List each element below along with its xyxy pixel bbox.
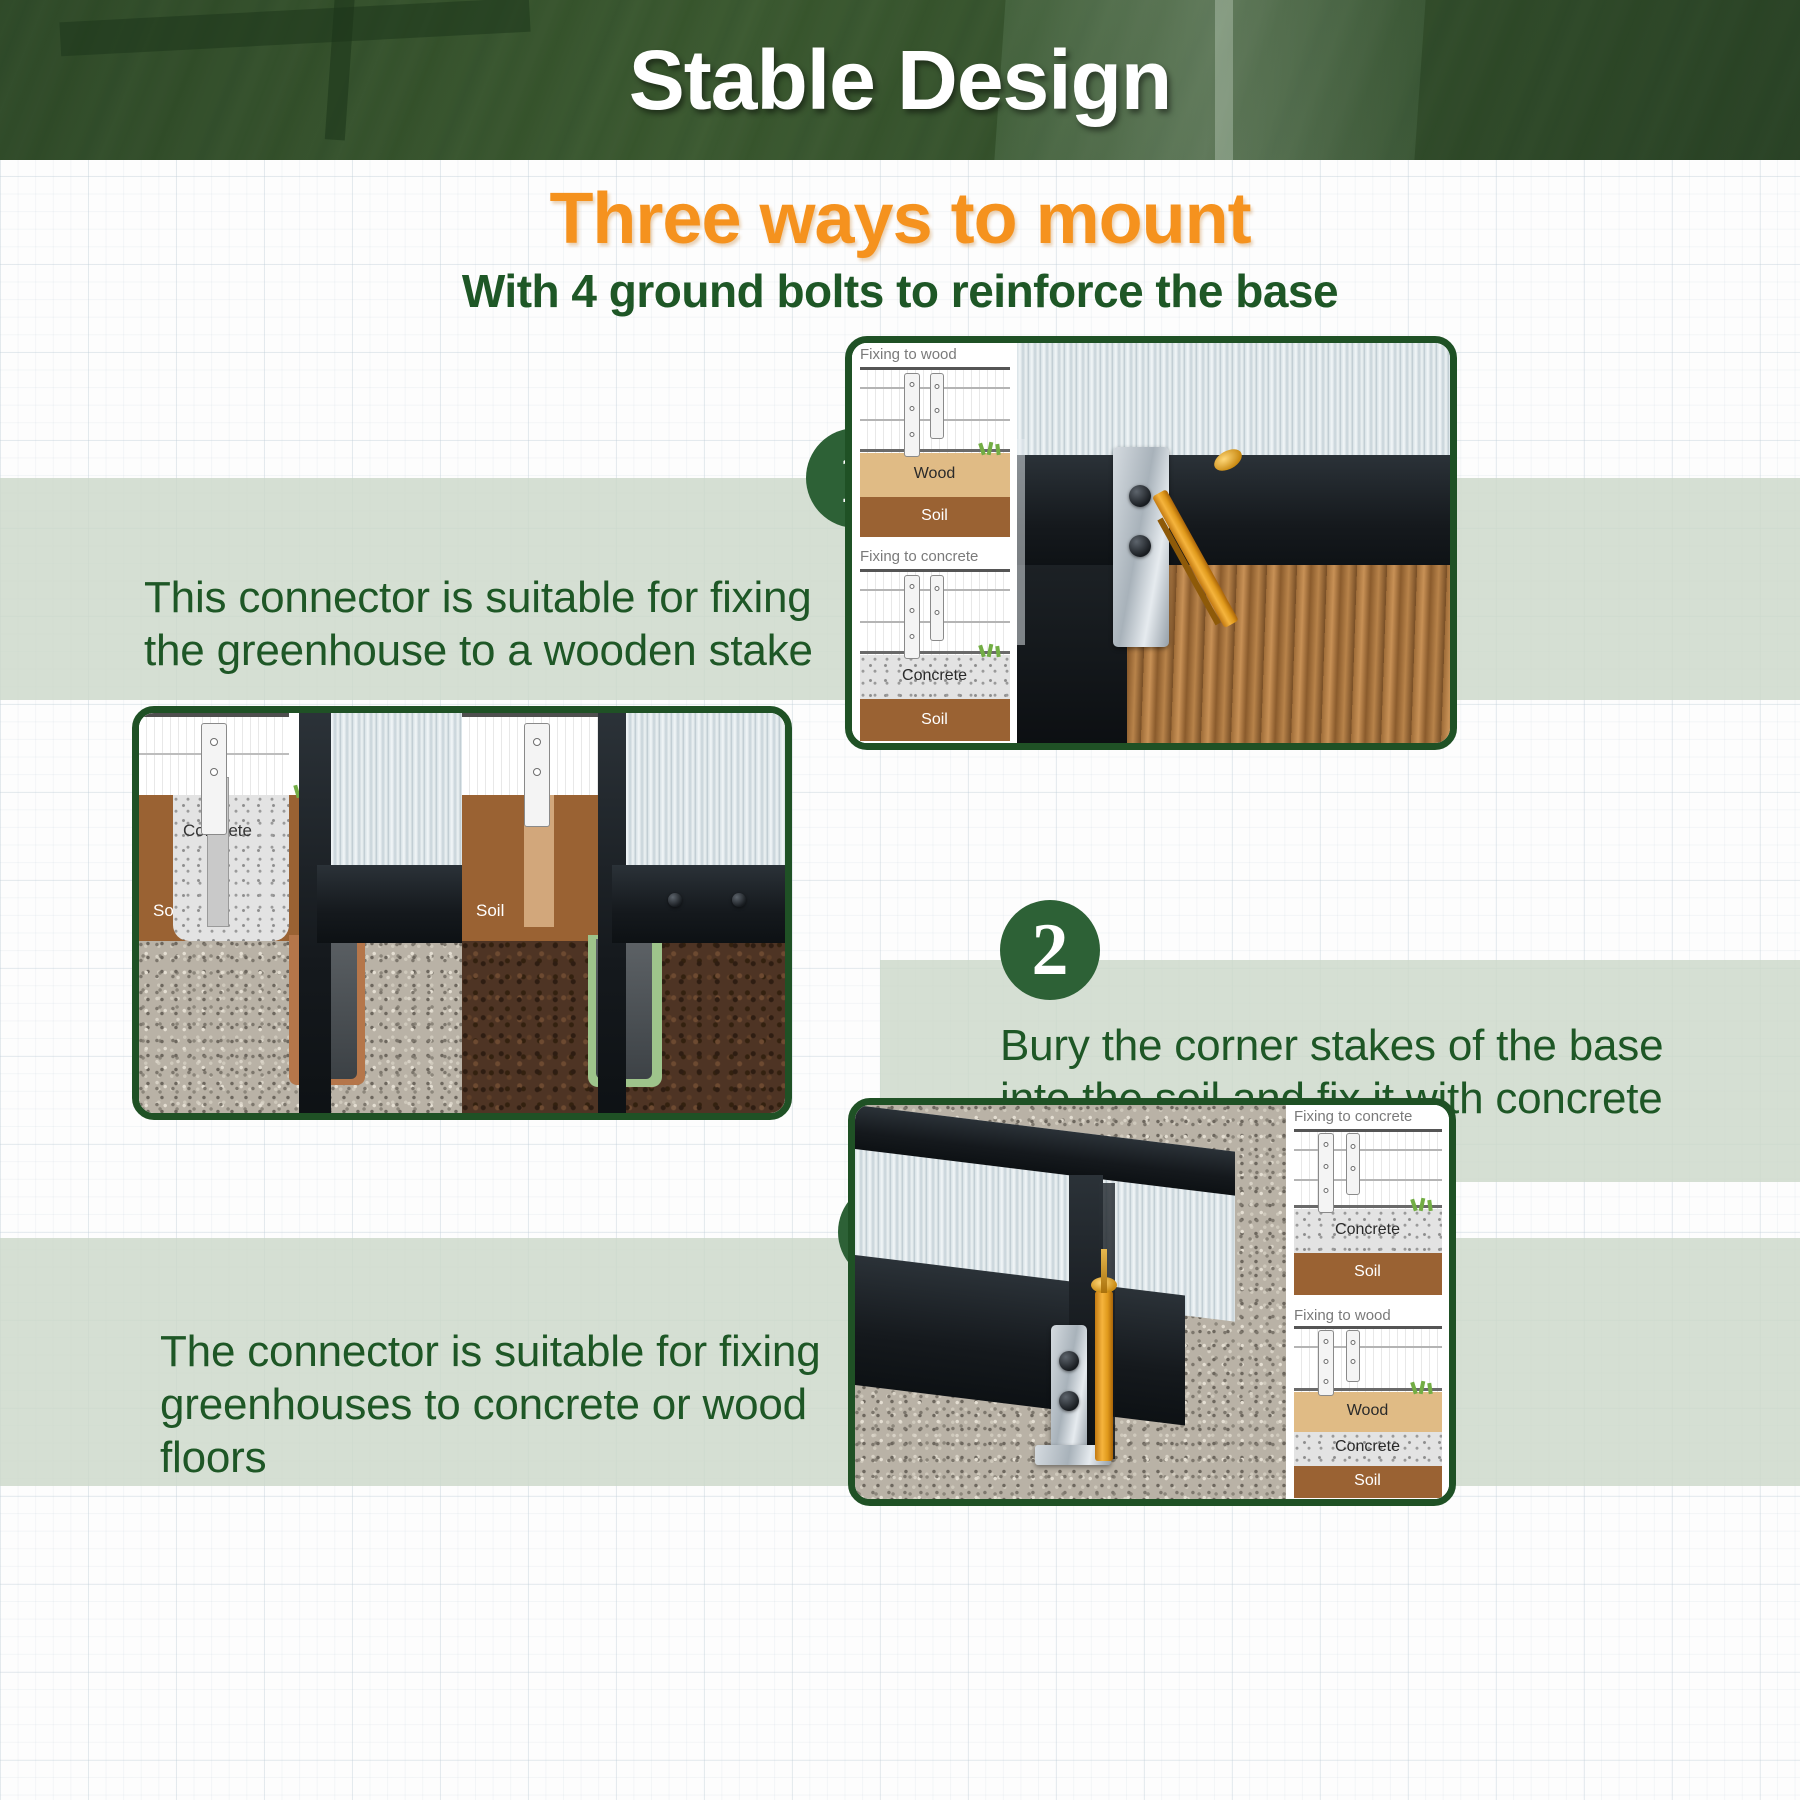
inset-layer-label-soil: Soil bbox=[1354, 1472, 1381, 1490]
photo-aluminium-frame bbox=[1017, 455, 1450, 573]
inset-label-fixing-to-concrete: Fixing to concrete bbox=[860, 548, 978, 565]
panel1-photograph bbox=[1017, 343, 1450, 743]
inset-layer-label-soil: Soil bbox=[921, 711, 948, 729]
panel1-inset-column: Fixing to wood Wood bbox=[852, 343, 1017, 743]
inset-rail-line bbox=[1294, 1179, 1442, 1181]
inset-top-rail bbox=[1294, 1129, 1442, 1132]
header-banner: Stable Design bbox=[0, 0, 1800, 160]
photo-bolt-head bbox=[1059, 1391, 1079, 1411]
panel2-left-half: Soil Concrete bbox=[139, 713, 462, 1113]
panel-bury-stakes-in-soil: Soil Concrete Soil bbox=[132, 706, 792, 1120]
schematic-top-rail bbox=[462, 713, 612, 717]
inset-fixing-to-wood: Fixing to wood Wood bbox=[1286, 1304, 1449, 1501]
inset-layer-label-concrete: Concrete bbox=[1335, 1221, 1400, 1239]
panel3-inset-column: Fixing to concrete Concrete bbox=[1286, 1105, 1449, 1499]
inset-bracket-side bbox=[1346, 1330, 1360, 1382]
photo-base-rail bbox=[612, 865, 785, 943]
inset-bracket-side bbox=[1346, 1133, 1360, 1195]
inset-bracket-vertical bbox=[1318, 1330, 1334, 1396]
page-title: Stable Design bbox=[629, 32, 1171, 129]
inset-polycarbonate-wall bbox=[1294, 1326, 1442, 1392]
photo-polycarbonate-corner bbox=[612, 713, 785, 873]
inset-layer-label-concrete: Concrete bbox=[1335, 1438, 1400, 1456]
panel2-right-half: Soil bbox=[462, 713, 785, 1113]
inset-layer-label-wood: Wood bbox=[1347, 1402, 1389, 1420]
schematic-concrete-pit bbox=[173, 795, 289, 941]
photo-bolt-head bbox=[1059, 1351, 1079, 1371]
inset-bracket-side bbox=[930, 575, 944, 641]
inset-top-rail bbox=[860, 569, 1010, 572]
step-description-3: The connector is suitable for fixing gre… bbox=[160, 1326, 920, 1484]
inset-label-fixing-to-concrete: Fixing to concrete bbox=[1294, 1108, 1412, 1125]
inset-label-fixing-to-wood: Fixing to wood bbox=[1294, 1307, 1391, 1324]
photo-bolt-head bbox=[1129, 535, 1151, 557]
inset-layer-label-wood: Wood bbox=[914, 465, 956, 483]
inset-bracket-side bbox=[930, 373, 944, 439]
panel-fixing-to-concrete-floor: Fixing to concrete Concrete bbox=[848, 1098, 1456, 1506]
inset-top-rail bbox=[860, 367, 1010, 370]
inset-label-fixing-to-wood: Fixing to wood bbox=[860, 346, 957, 363]
photo-screw-shank bbox=[1101, 1249, 1107, 1293]
inset-layer-label-soil: Soil bbox=[1354, 1263, 1381, 1281]
inset-fixing-to-wood: Fixing to wood Wood bbox=[852, 343, 1017, 543]
inset-rail-line bbox=[1294, 1346, 1442, 1348]
inset-fixing-to-concrete: Fixing to concrete Concrete bbox=[852, 545, 1017, 745]
banner-beam-decor bbox=[59, 0, 530, 56]
photo-frame-bolt bbox=[668, 893, 682, 907]
photo-ground-screw bbox=[1095, 1291, 1113, 1461]
inset-top-rail bbox=[1294, 1326, 1442, 1329]
section-subheading-green: With 4 ground bolts to reinforce the bas… bbox=[0, 264, 1800, 318]
photo-highlight bbox=[1017, 439, 1025, 645]
photo-polycarbonate-corner bbox=[317, 713, 462, 873]
photo-shadow-area bbox=[1017, 565, 1127, 743]
photo-bolt-head bbox=[1129, 485, 1151, 507]
photo-frame-bolt bbox=[732, 893, 746, 907]
inset-bracket-vertical bbox=[1318, 1133, 1334, 1213]
step-description-1: This connector is suitable for fixing th… bbox=[144, 572, 884, 678]
schematic-top-rail bbox=[139, 713, 289, 717]
inset-polycarbonate-wall bbox=[1294, 1129, 1442, 1211]
schematic-soil-label: Soil bbox=[476, 901, 504, 921]
panel-fixing-to-wooden-stake: Fixing to wood Wood bbox=[845, 336, 1457, 750]
banner-mullion-decor bbox=[1215, 0, 1233, 160]
inset-layer-label-soil: Soil bbox=[921, 507, 948, 525]
inset-rail-line bbox=[1294, 1149, 1442, 1151]
photo-base-rail bbox=[317, 865, 462, 943]
inset-fixing-to-concrete: Fixing to concrete Concrete bbox=[1286, 1105, 1449, 1302]
photo-metal-bracket-vertical bbox=[1051, 1325, 1087, 1455]
section-heading-orange: Three ways to mount bbox=[0, 178, 1800, 260]
inset-bracket-vertical bbox=[904, 373, 920, 457]
photo-polycarbonate-panel bbox=[1017, 343, 1450, 461]
inset-layer-label-concrete: Concrete bbox=[902, 667, 967, 685]
inset-bracket-vertical bbox=[904, 575, 920, 659]
panel3-photograph bbox=[855, 1105, 1290, 1499]
step-number-badge-2: 2 bbox=[1000, 900, 1100, 1000]
schematic-bracket bbox=[524, 723, 550, 827]
schematic-bracket bbox=[201, 723, 227, 835]
